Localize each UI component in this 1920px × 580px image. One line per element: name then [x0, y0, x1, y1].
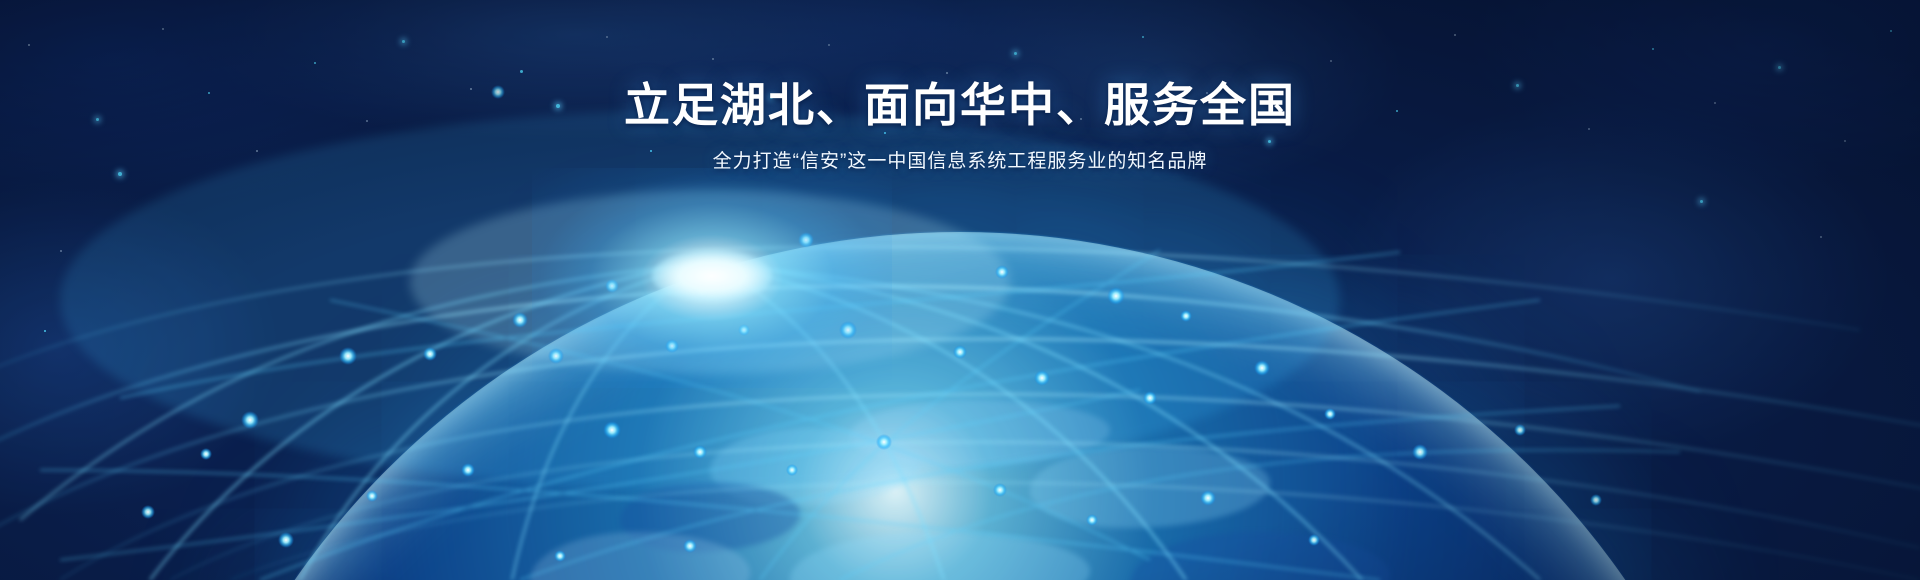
- banner-copy: 立足湖北、面向华中、服务全国 全力打造“信安”这一中国信息系统工程服务业的知名品…: [0, 78, 1920, 177]
- banner-subheadline: 全力打造“信安”这一中国信息系统工程服务业的知名品牌: [0, 148, 1920, 177]
- banner-headline: 立足湖北、面向华中、服务全国: [0, 78, 1920, 132]
- hero-banner: 立足湖北、面向华中、服务全国 全力打造“信安”这一中国信息系统工程服务业的知名品…: [0, 0, 1920, 580]
